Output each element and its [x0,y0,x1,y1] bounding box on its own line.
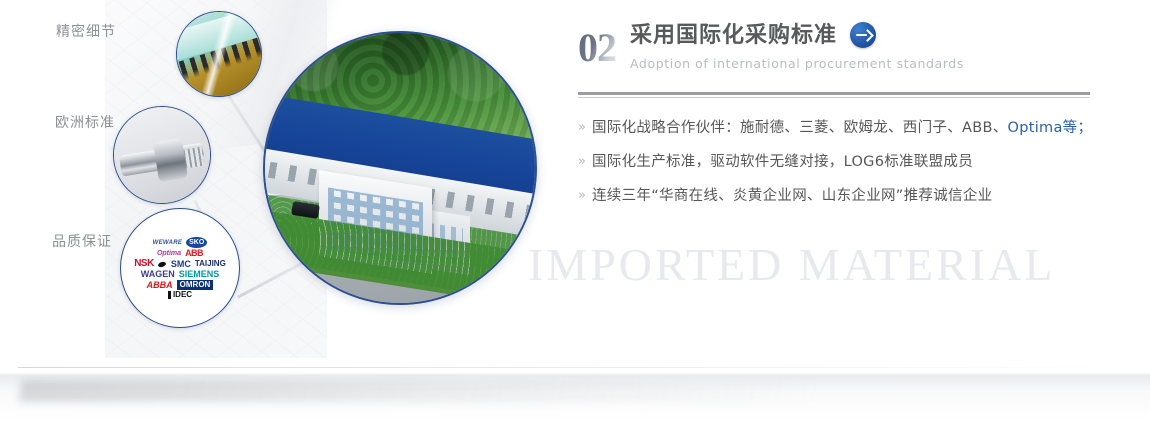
logo-idec: IDEC [168,291,192,299]
list-item-text: 连续三年“华商在线、炎黄企业网、山东企业网”推荐诚信企业 [592,186,992,206]
header-text-group: 采用国际化采购标准 Adoption of international proc… [630,22,964,71]
brand-logo-grid: WEWARE SKO Optima ABB NSK SMC TAIJING WA… [121,209,239,327]
gear-macro-photo [176,11,262,97]
arrow-right-circle-icon[interactable] [850,22,876,48]
logo-wagen: WAGEN [141,270,175,279]
chevron-right-icon: » [578,118,592,138]
smc-dot-icon [157,260,166,267]
logo-row: Optima ABB [157,249,203,258]
right-content: 02 采用国际化采购标准 Adoption of international p… [578,22,1098,220]
page-title-label: 采用国际化采购标准 [630,23,837,47]
section-header: 02 采用国际化采购标准 Adoption of international p… [578,22,1098,80]
logo-row: NSK SMC TAIJING [134,259,226,269]
logo-nsk: NSK [134,259,154,269]
list-item: » 连续三年“华商在线、炎黄企业网、山东企业网”推荐诚信企业 [578,186,1098,206]
logo-row: ABBA OMRON [147,280,214,290]
slide-canvas: 精密细节 欧洲标准 品质保证 WEWARE SKO Optima ABB [0,0,1150,430]
label-european-standard: 欧洲标准 [55,112,115,132]
brand-logos-photo: WEWARE SKO Optima ABB NSK SMC TAIJING WA… [120,208,240,328]
label-precision-detail: 精密细节 [56,21,116,41]
logo-weware: WEWARE [153,240,182,246]
factory-aerial-photo [263,31,537,305]
divider-thick-rule [578,92,1090,95]
shaft-art [114,107,210,203]
logo-row: WAGEN SIEMENS [141,270,220,279]
chevron-right-icon: » [578,152,592,172]
list-item-text-plain: 国际化战略合作伙伴：施耐德、三菱、欧姆龙、西门子、ABB、 [592,120,1008,136]
list-item-text-highlight: Optima等； [1008,120,1093,136]
logo-sko: SKO [186,237,207,248]
label-quality-assurance: 品质保证 [52,231,112,251]
gear-art [177,12,261,96]
page-title: 采用国际化采购标准 [630,22,964,48]
logo-abba: ABBA [147,281,173,290]
logo-omron: OMRON [177,280,214,290]
chevron-right-icon: » [578,186,592,206]
list-item: » 国际化战略合作伙伴：施耐德、三菱、欧姆龙、西门子、ABB、Optima等； [578,118,1098,138]
section-number: 02 [578,22,616,68]
floor-horizon-line [18,367,1133,368]
list-item: » 国际化生产标准，驱动软件无缝对接，LOG6标准联盟成员 [578,152,1098,172]
floor-reflection-shadow [0,360,1150,430]
logo-optima: Optima [157,250,181,257]
logo-taijing: TAIJING [195,260,226,268]
page-subtitle: Adoption of international procurement st… [630,56,964,71]
shaft-nut [153,138,188,182]
logo-siemens: SIEMENS [179,270,220,279]
logo-row: IDEC [168,291,192,299]
watermark-text: IMPORTED MATERIAL [528,238,1055,291]
bullet-list: » 国际化战略合作伙伴：施耐德、三菱、欧姆龙、西门子、ABB、Optima等； … [578,118,1098,206]
divider-thin-rule [578,97,1090,98]
list-item-text: 国际化生产标准，驱动软件无缝对接，LOG6标准联盟成员 [592,152,973,172]
header-divider [578,92,1090,98]
logo-smc: SMC [171,260,191,269]
list-item-text: 国际化战略合作伙伴：施耐德、三菱、欧姆龙、西门子、ABB、Optima等； [592,118,1092,138]
ball-screw-photo [113,106,211,204]
logo-abb: ABB [185,249,203,258]
logo-row: WEWARE SKO [153,237,208,248]
